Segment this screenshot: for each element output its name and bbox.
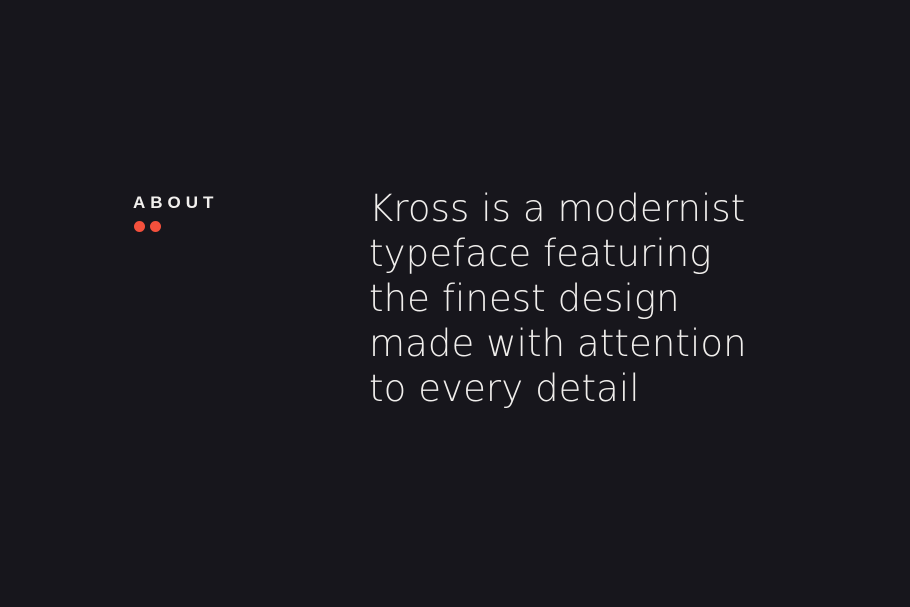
section-label-block: ABOUT	[133, 193, 333, 232]
headline-line-3: the finest design	[369, 276, 789, 321]
headline-line-5: to every detail	[369, 366, 789, 411]
about-slide: ABOUT Kross is a modernist typeface feat…	[0, 0, 910, 607]
headline-line-4: made with attention	[369, 321, 789, 366]
accent-dot-2-icon	[150, 221, 161, 232]
headline-block: Kross is a modernist typeface featuring …	[369, 186, 789, 411]
section-eyebrow-label: ABOUT	[133, 193, 333, 213]
headline-line-2: typeface featuring	[369, 231, 789, 276]
accent-dots-group	[134, 221, 333, 232]
headline-line-1: Kross is a modernist	[369, 186, 789, 231]
accent-dot-1-icon	[134, 221, 145, 232]
